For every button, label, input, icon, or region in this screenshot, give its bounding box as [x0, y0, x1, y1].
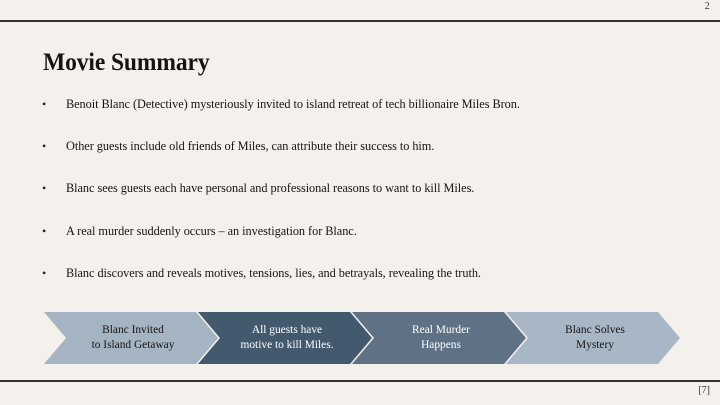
- header-divider-rule: [0, 20, 720, 22]
- list-item: • Other guests include old friends of Mi…: [40, 138, 670, 180]
- process-step-4: Blanc Solves Mystery: [506, 312, 680, 364]
- process-step-label: Blanc Invited to Island Getaway: [76, 323, 187, 353]
- footer-citation: [7]: [698, 385, 710, 396]
- list-item: • Benoit Blanc (Detective) mysteriously …: [40, 96, 670, 138]
- list-item: • A real murder suddenly occurs – an inv…: [40, 223, 670, 265]
- bullet-text: Blanc sees guests each have personal and…: [66, 180, 474, 196]
- process-step-label: Real Murder Happens: [396, 323, 482, 353]
- bullet-marker-icon: •: [42, 180, 46, 196]
- bullet-marker-icon: •: [42, 138, 46, 154]
- bullet-marker-icon: •: [42, 223, 46, 239]
- process-step-2: All guests have motive to kill Miles.: [198, 312, 372, 364]
- bullet-marker-icon: •: [42, 96, 46, 112]
- page-number: 2: [705, 1, 710, 12]
- bullet-text: Other guests include old friends of Mile…: [66, 138, 434, 154]
- bullet-marker-icon: •: [42, 265, 46, 281]
- list-item: • Blanc sees guests each have personal a…: [40, 180, 670, 222]
- page-title: Movie Summary: [43, 48, 210, 78]
- process-step-label: Blanc Solves Mystery: [549, 323, 637, 353]
- footer-divider-rule: [0, 380, 720, 382]
- process-step-label: All guests have motive to kill Miles.: [224, 323, 345, 353]
- process-step-3: Real Murder Happens: [352, 312, 526, 364]
- slide-canvas: 2 Movie Summary • Benoit Blanc (Detectiv…: [0, 0, 720, 405]
- bullet-text: Blanc discovers and reveals motives, ten…: [66, 265, 481, 281]
- list-item: • Blanc discovers and reveals motives, t…: [40, 265, 670, 307]
- process-step-1: Blanc Invited to Island Getaway: [44, 312, 218, 364]
- slide-header: 2: [0, 0, 720, 22]
- process-chevron-diagram: Blanc Invited to Island Getaway All gues…: [44, 312, 676, 364]
- bullet-list: • Benoit Blanc (Detective) mysteriously …: [40, 96, 670, 307]
- bullet-text: Benoit Blanc (Detective) mysteriously in…: [66, 96, 520, 112]
- bullet-text: A real murder suddenly occurs – an inves…: [66, 223, 357, 239]
